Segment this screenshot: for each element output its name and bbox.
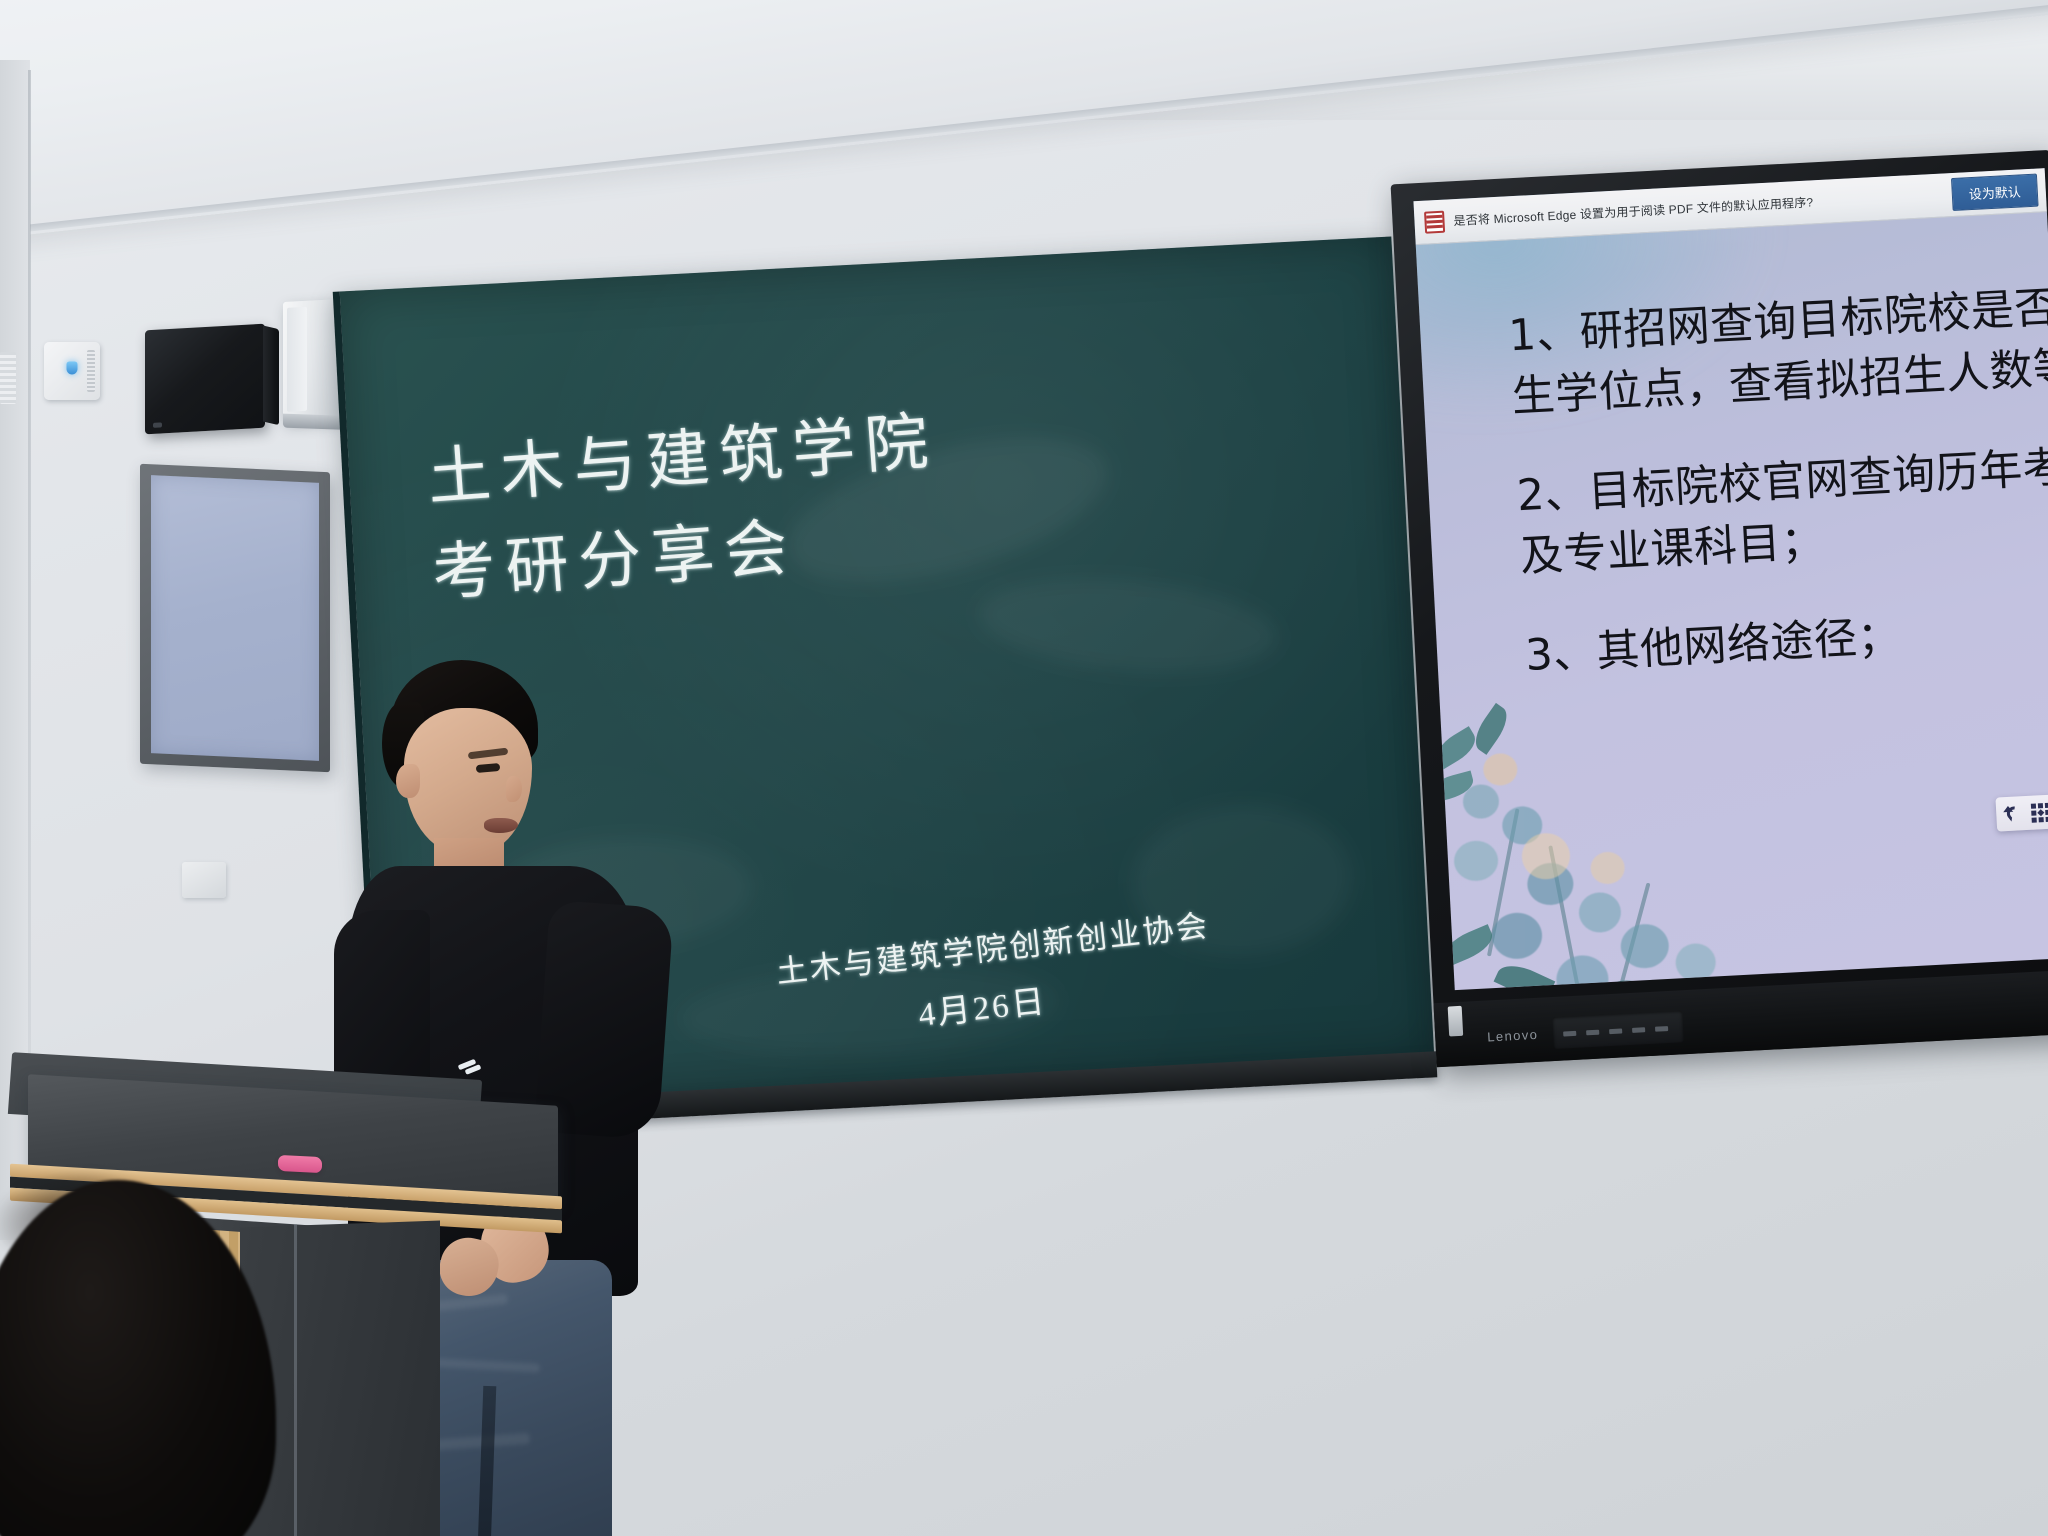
grid-cell <box>2031 810 2036 815</box>
wifi-ap-grill <box>87 350 95 392</box>
eucalyptus-leaf <box>1491 912 1543 961</box>
undo-arrow-icon[interactable] <box>2003 804 2024 823</box>
grid-cell <box>2032 817 2037 822</box>
slide-body-text: 1、研招网查询目标院校是否有硕 生学位点，查看拟招生人数等等 2、目标院校官网查… <box>1507 275 2048 687</box>
display-button[interactable] <box>1632 1027 1645 1033</box>
smart-interactive-display[interactable]: 是否将 Microsoft Edge 设置为用于阅读 PDF 文件的默认应用程序… <box>1391 150 2048 1067</box>
floral-decoration <box>1421 674 1768 990</box>
podium-pink-object <box>278 1155 322 1173</box>
eucalyptus-leaf <box>1578 891 1622 933</box>
keypad-grid-icon[interactable] <box>2031 802 2048 822</box>
eucalyptus-leaf <box>1675 942 1717 982</box>
wall-vent <box>0 352 16 404</box>
floral-blossom <box>1590 851 1626 885</box>
display-button[interactable] <box>1655 1026 1668 1032</box>
speaker-mount-bracket <box>153 422 162 428</box>
slide-floating-toolbar[interactable] <box>1995 793 2048 831</box>
wifi-access-point <box>44 342 100 400</box>
undo-arrowhead <box>2003 806 2013 813</box>
eucalyptus-leaf <box>1555 954 1609 990</box>
speaker-side-panel <box>263 325 279 425</box>
presenter-ear <box>396 764 420 798</box>
display-button[interactable] <box>1586 1030 1599 1036</box>
wifi-status-led-icon <box>67 361 78 374</box>
grid-cell <box>2039 817 2044 822</box>
floral-blossom <box>1483 753 1519 787</box>
floral-leaf <box>1468 703 1514 755</box>
display-screen[interactable]: 是否将 Microsoft Edge 设置为用于阅读 PDF 文件的默认应用程序… <box>1413 168 2048 990</box>
classroom-photo-scene: 土木与建筑学院 考研分享会 土木与建筑学院创新创业协会 4月26日 是否将 Mi… <box>0 0 2048 1536</box>
framed-notice-board <box>140 464 330 773</box>
chalk-smudge <box>975 568 1282 684</box>
floral-leaf <box>1494 958 1556 990</box>
bezel-side-tab <box>1448 1006 1464 1037</box>
grid-cell <box>2031 803 2036 808</box>
eucalyptus-leaf <box>1453 840 1499 882</box>
speaker-front-grill <box>287 307 307 412</box>
display-button[interactable] <box>1609 1028 1622 1034</box>
floral-leaf <box>1603 975 1665 991</box>
display-button[interactable] <box>1563 1031 1576 1037</box>
wall-outlet-plate <box>182 862 226 898</box>
grid-cell <box>2038 803 2043 808</box>
set-as-default-button[interactable]: 设为默认 <box>1951 174 2039 211</box>
grid-cell <box>2037 809 2044 816</box>
pdf-document-icon <box>1424 210 1445 233</box>
powerpoint-slide[interactable]: 1、研招网查询目标院校是否有硕 生学位点，查看拟招生人数等等 2、目标院校官网查… <box>1416 212 2048 990</box>
lenovo-brand-label: Lenovo <box>1487 1027 1539 1045</box>
floral-leaf <box>1431 726 1481 769</box>
wall-corner-line <box>28 70 31 1190</box>
notice-board-surface <box>151 475 319 761</box>
podium-column-edge <box>294 1224 297 1536</box>
wall-speaker-black <box>145 324 265 435</box>
